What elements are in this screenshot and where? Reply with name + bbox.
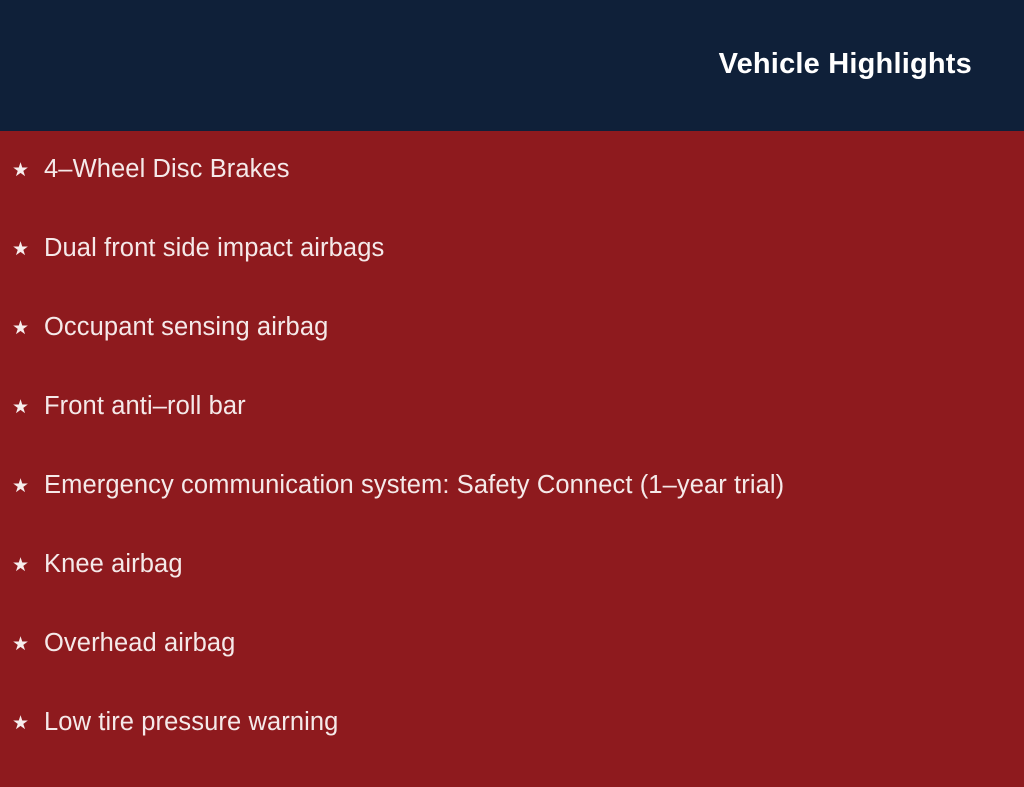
list-item-label: Low tire pressure warning <box>44 708 338 736</box>
list-item: ★ Front anti–roll bar <box>0 392 1024 471</box>
list-item-label: Occupant sensing airbag <box>44 313 328 341</box>
slide-body: ★ 4–Wheel Disc Brakes ★ Dual front side … <box>0 131 1024 768</box>
list-item: ★ Dual front side impact airbags <box>0 234 1024 313</box>
list-item: ★ Low tire pressure warning <box>0 708 1024 787</box>
list-item-label: Emergency communication system: Safety C… <box>44 471 784 499</box>
list-item: ★ Occupant sensing airbag <box>0 313 1024 392</box>
list-item-label: Front anti–roll bar <box>44 392 246 420</box>
star-bullet-icon: ★ <box>12 477 44 496</box>
star-bullet-icon: ★ <box>12 240 44 259</box>
vehicle-highlights-list: ★ 4–Wheel Disc Brakes ★ Dual front side … <box>0 155 1024 787</box>
star-bullet-icon: ★ <box>12 398 44 417</box>
list-item-label: 4–Wheel Disc Brakes <box>44 155 290 183</box>
slide-header: Vehicle Highlights <box>0 0 1024 131</box>
star-bullet-icon: ★ <box>12 319 44 338</box>
list-item: ★ Emergency communication system: Safety… <box>0 471 1024 550</box>
list-item-label: Overhead airbag <box>44 629 235 657</box>
list-item: ★ 4–Wheel Disc Brakes <box>0 155 1024 234</box>
star-bullet-icon: ★ <box>12 556 44 575</box>
list-item: ★ Overhead airbag <box>0 629 1024 708</box>
star-bullet-icon: ★ <box>12 635 44 654</box>
list-item-label: Dual front side impact airbags <box>44 234 384 262</box>
list-item-label: Knee airbag <box>44 550 183 578</box>
page-title: Vehicle Highlights <box>719 50 972 79</box>
star-bullet-icon: ★ <box>12 161 44 180</box>
star-bullet-icon: ★ <box>12 714 44 733</box>
list-item: ★ Knee airbag <box>0 550 1024 629</box>
vehicle-highlights-slide: Vehicle Highlights ★ 4–Wheel Disc Brakes… <box>0 0 1024 768</box>
